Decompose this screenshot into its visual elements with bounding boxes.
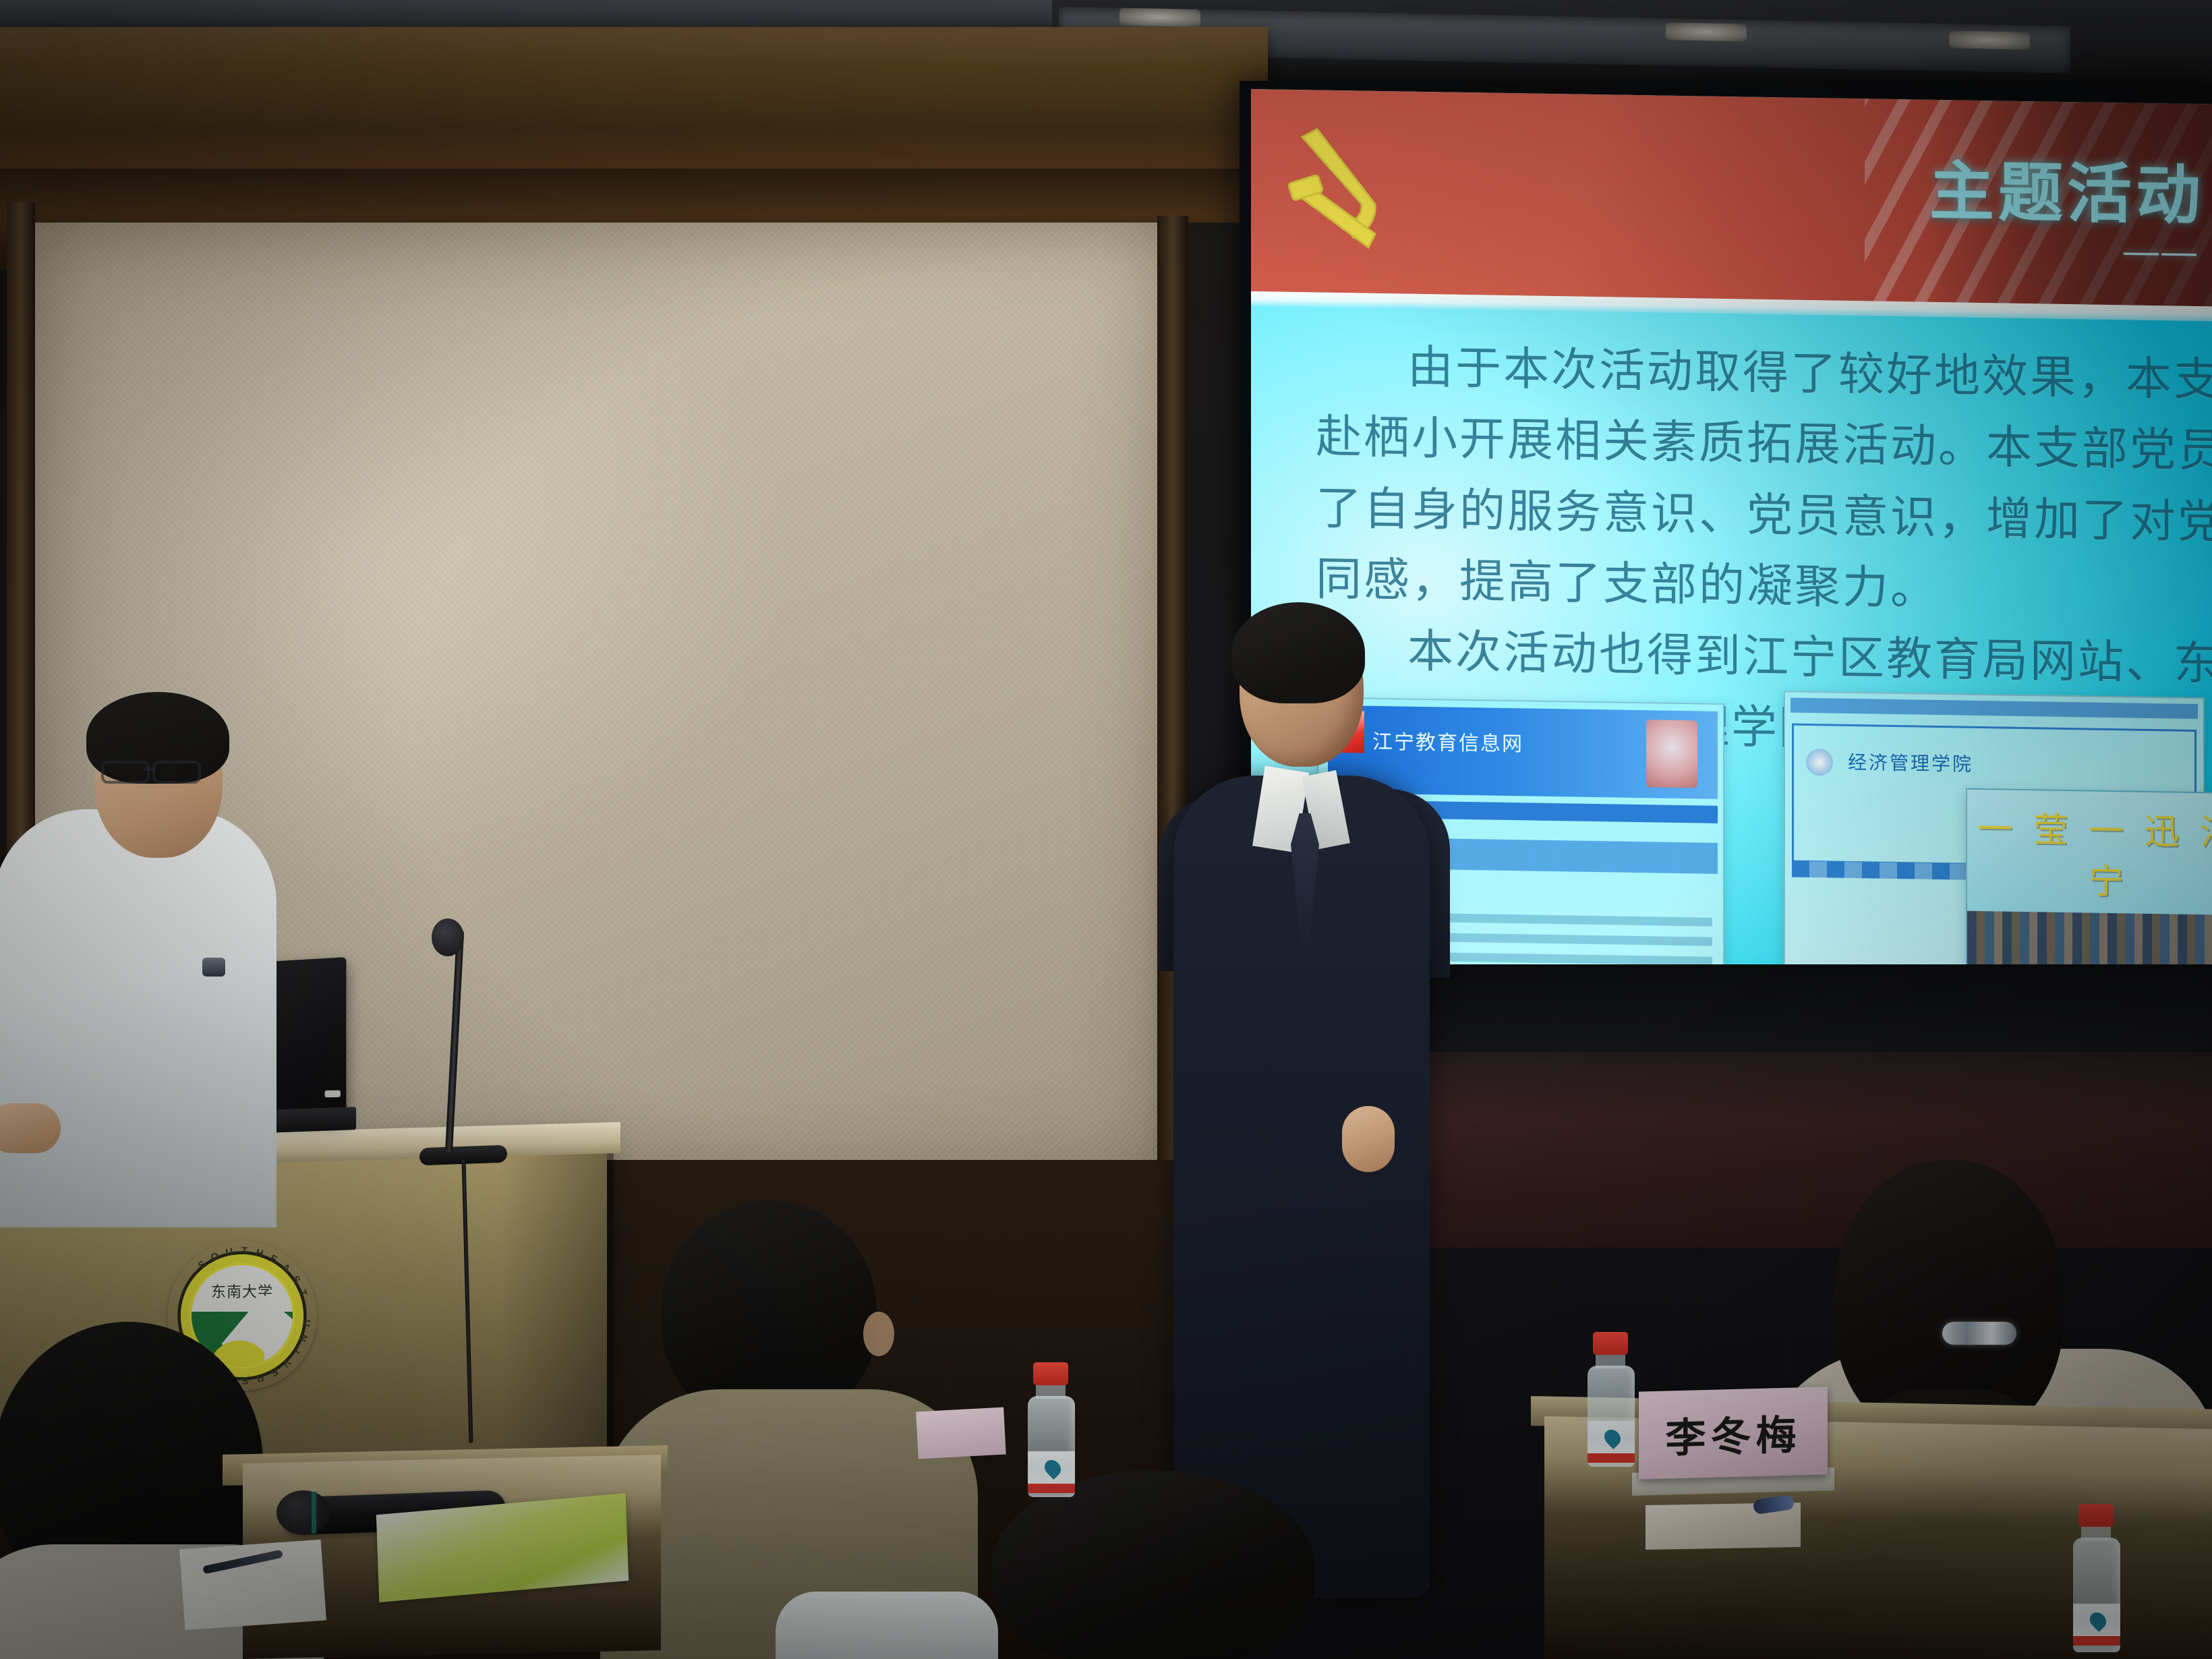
- seal-letter: S: [241, 1374, 249, 1386]
- slide-subtitle: ——: [2124, 231, 2199, 272]
- seal-letter: N: [296, 1333, 310, 1344]
- thumbnail-title: 江宁教育信息网: [1372, 725, 1523, 757]
- nameplate-text: 李冬梅: [1666, 1402, 1801, 1464]
- presenter-hands: [1342, 1106, 1395, 1172]
- ceiling-light-icon: [1119, 8, 1200, 27]
- thumbnail-top-strip: [1791, 698, 2198, 719]
- seal-letter: [301, 1306, 312, 1310]
- ceiling-light-icon: [1666, 22, 1747, 41]
- handheld-microphone-head-icon: [276, 1490, 330, 1535]
- seal-letter: T: [241, 1245, 249, 1256]
- lectern-shadow: [499, 1144, 614, 1463]
- audience-khaki-ear: [863, 1312, 894, 1356]
- site-logo-icon: [1806, 749, 1833, 776]
- seal-arch-motif: [214, 1322, 264, 1366]
- bottle-neck: [1036, 1384, 1066, 1399]
- thumbnail-title: 经济管理学院: [1848, 748, 1973, 777]
- slide-paragraph: 本次活动也得到江宁区教育局网站、东南大学校报: [1316, 617, 2199, 698]
- handheld-microphone-ring: [312, 1492, 316, 1534]
- slide-title: 主题活动: [1929, 139, 2205, 237]
- bottle-label: [2073, 1604, 2120, 1646]
- seal-letter: H: [254, 1247, 265, 1260]
- seal-chinese-label: 东南大学: [192, 1280, 293, 1302]
- photograph-scene: 主题活动 —— 由于本次活动取得了较好地效果，本支部应邀于六月 赴栖小开展相关素…: [0, 0, 2212, 1659]
- operator-hand: [0, 1103, 61, 1153]
- seal-letter: A: [279, 1261, 293, 1275]
- presenter-hair: [1231, 602, 1365, 703]
- laptop-indicator-icon: [325, 1090, 341, 1098]
- slide-thumbnail-group-photo: 一 莹 一 迅 江 宁: [1966, 788, 2212, 995]
- bottle-neck: [2081, 1525, 2111, 1540]
- slide-paragraph: 了自身的服务意识、党员意识，增加了对党支部的归属: [1316, 475, 2199, 556]
- bottle-neck: [1596, 1354, 1625, 1368]
- water-bottle-center: [1025, 1362, 1079, 1504]
- slide-paragraph: 赴栖小开展相关素质拓展活动。本支部党员在这次活动中: [1316, 404, 2199, 485]
- seal-letter: R: [254, 1372, 265, 1385]
- white-handout: [179, 1540, 326, 1630]
- thumbnail-caption: 一 莹 一 迅 江 宁: [1967, 801, 2212, 906]
- bottle-label: [1588, 1421, 1635, 1463]
- seal-letter: U: [225, 1246, 235, 1258]
- operator-glasses-bridge: [144, 767, 154, 771]
- slide-paragraph: 由于本次活动取得了较好地效果，本支部应邀于六月: [1316, 333, 2199, 414]
- operator-blouse: [0, 809, 276, 1227]
- chair-backrest: [776, 1592, 998, 1659]
- bottle-cap-icon: [2078, 1504, 2114, 1527]
- seal-letter: O: [209, 1250, 222, 1264]
- cpc-hammer-sickle-emblem: [1274, 117, 1395, 260]
- pink-card: [916, 1407, 1006, 1459]
- water-bottle-right: [1585, 1332, 1639, 1474]
- gooseneck-microphone-icon: [432, 919, 464, 956]
- slide-paragraph: 同感，提高了支部的凝聚力。: [1316, 546, 2199, 627]
- site-seal-icon: [1646, 720, 1697, 788]
- seal-letter: T: [296, 1288, 309, 1298]
- seal-letter: E: [268, 1366, 280, 1379]
- nameplate: 李冬梅: [1639, 1387, 1828, 1479]
- seal-letter: E: [268, 1252, 280, 1266]
- operator-glasses-left-lens: [101, 761, 150, 784]
- ceiling-light-icon: [1949, 30, 2030, 49]
- operator-glasses-right-lens: [152, 761, 201, 784]
- slide-banner: 主题活动 ——: [1251, 89, 2212, 306]
- bottle-cap-icon: [1593, 1332, 1628, 1355]
- water-bottle-far-right: [2070, 1504, 2130, 1659]
- operator-pocket-badge: [202, 958, 225, 977]
- bottle-cap-icon: [1033, 1362, 1068, 1385]
- seal-letter: S: [196, 1258, 208, 1271]
- bottle-label: [1028, 1451, 1075, 1493]
- hair-clip-icon: [1942, 1322, 2016, 1345]
- seal-letter: U: [300, 1318, 312, 1328]
